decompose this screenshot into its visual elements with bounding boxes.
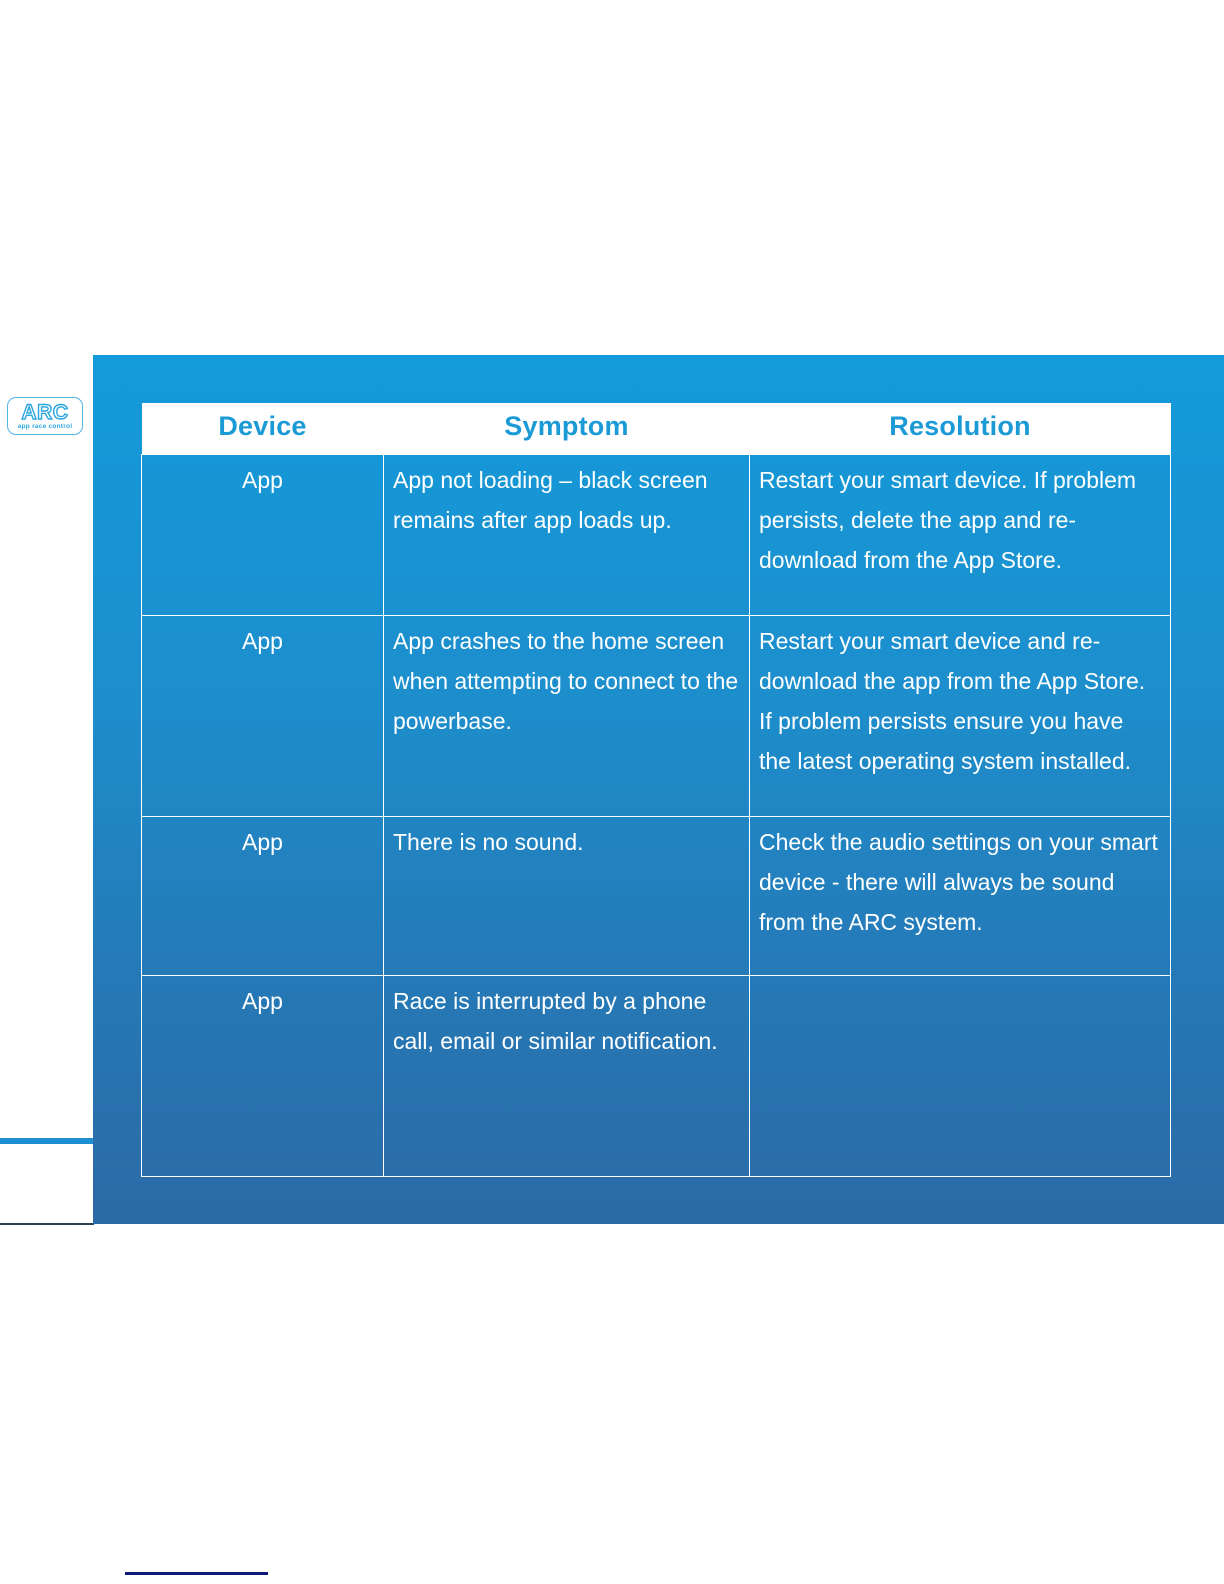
table-row: App App not loading – black screen remai… [142, 455, 1171, 616]
troubleshooting-table: Device Symptom Resolution App App not lo… [141, 403, 1171, 1177]
cell-resolution: Restart your smart device and re-downloa… [750, 616, 1171, 817]
column-header-device: Device [142, 403, 384, 455]
cell-device: App [142, 976, 384, 1177]
cell-resolution: Check the audio settings on your smart d… [750, 817, 1171, 976]
cell-resolution: Restart your smart device. If problem pe… [750, 455, 1171, 616]
cell-device: App [142, 616, 384, 817]
arc-logo-tagline: app race control [18, 424, 73, 431]
cell-symptom: App crashes to the home screen when atte… [384, 616, 750, 817]
cell-symptom: App not loading – black screen remains a… [384, 455, 750, 616]
table-header-row: Device Symptom Resolution [142, 403, 1171, 455]
arc-logo-wordmark: ARC [22, 402, 69, 423]
table-row: App Race is interrupted by a phone call,… [142, 976, 1171, 1177]
column-header-resolution: Resolution [750, 403, 1171, 455]
table-row: App App crashes to the home screen when … [142, 616, 1171, 817]
table-row: App There is no sound. Check the audio s… [142, 817, 1171, 976]
left-accent-rule [0, 1138, 93, 1144]
table-body: App App not loading – black screen remai… [142, 455, 1171, 1177]
left-margin-divider [0, 1223, 94, 1225]
arc-logo: ARC app race control [7, 397, 83, 435]
cell-device: App [142, 455, 384, 616]
column-header-symptom: Symptom [384, 403, 750, 455]
footer-rule [125, 1572, 268, 1575]
cell-symptom: Race is interrupted by a phone call, ema… [384, 976, 750, 1177]
cell-device: App [142, 817, 384, 976]
cell-symptom: There is no sound. [384, 817, 750, 976]
cell-resolution [750, 976, 1171, 1177]
table-header: Device Symptom Resolution [142, 403, 1171, 455]
